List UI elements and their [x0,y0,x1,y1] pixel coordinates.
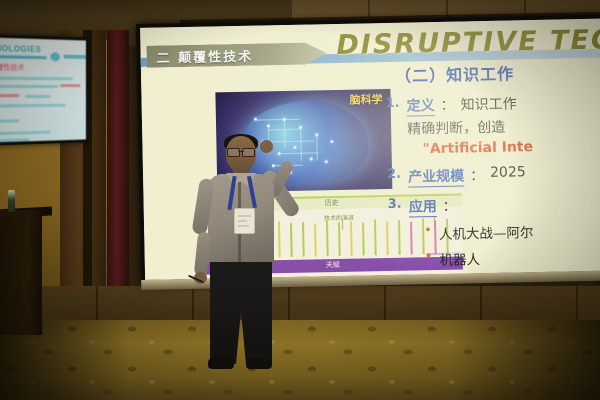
conference-presentation-photo: HNOLOGIES 颠覆性技术 二 颠覆性技术 DISRUPTIVE TE [0,0,600,400]
podium [0,210,42,335]
slide-section-label: 二 颠覆性技术 [156,45,253,66]
slide-section-arrow: 二 颠覆性技术 [146,42,326,68]
brain-image-label: 脑科学 [349,91,382,108]
slide-bullet: • 人机大战—阿尔 [424,219,600,243]
secondary-screen-rule [0,55,47,59]
eyeglasses-icon [227,148,255,155]
secondary-text-line [25,95,50,98]
point-separator: ： [443,196,457,217]
secondary-text-line [0,131,50,136]
secondary-text-highlight [60,84,80,87]
secondary-text-line [0,138,29,142]
point-keyword: 定义 [406,95,434,117]
secondary-text-line [0,77,73,81]
presenter-shoe-left [208,358,234,369]
point-number: 3. [388,197,403,218]
point-number: 1. [385,96,400,117]
floor-shadow-right [450,320,600,400]
point-highlight: "Artificial Inte [422,137,600,157]
secondary-screen-subtitle: 颠覆性技术 [0,62,24,73]
point-keyword: 应用 [409,196,437,218]
slide-point-1: 1. 定义 ： 知识工作 [385,91,600,117]
point-body: 2025 [490,164,526,186]
water-bottle [8,190,15,212]
secondary-text-highlight [0,94,19,97]
presenter [186,136,306,386]
bullet-dot-icon: • [424,223,432,243]
presenter-shoe-right [246,358,272,369]
presenter-trousers [210,266,272,364]
slide-subtitle: （二）知识工作 [395,58,600,87]
point-separator: ： [470,165,484,186]
slide-english-title: DISRUPTIVE TECH [336,24,600,61]
bullet-text: 人机大战—阿尔 [439,221,534,243]
bullet-dot-icon: • [425,249,433,269]
point-body: 知识工作 [460,93,516,115]
secondary-text-line [0,119,19,123]
slide-bullet: • 机器人 [425,245,600,269]
secondary-text-line [0,104,66,108]
point-number: 2. [387,167,402,188]
secondary-text-line [0,85,58,88]
name-badge [234,208,255,234]
presenter-left-forearm [194,231,212,276]
secondary-screen-rule-2 [64,55,86,59]
slide-text-column: （二）知识工作 1. 定义 ： 知识工作 精确判断，创造 "Artificial… [385,58,600,280]
secondary-screen-badge-icon [50,52,59,61]
presenter-right-hand [260,140,273,153]
point-continuation: 精确判断，创造 [407,114,600,139]
bullet-text: 机器人 [439,248,480,269]
slide-point-3: 3. 应用 ： [388,192,600,218]
point-keyword: 产业规模 [408,165,464,187]
slide-point-2: 2. 产业规模 ： 2025 [387,162,600,188]
secondary-screen-title: HNOLOGIES [0,44,41,54]
secondary-screen-surface: HNOLOGIES 颠覆性技术 [0,37,86,142]
red-curtain [107,30,129,330]
secondary-projection-screen: HNOLOGIES 颠覆性技术 [0,34,89,146]
point-separator: ： [440,95,454,116]
